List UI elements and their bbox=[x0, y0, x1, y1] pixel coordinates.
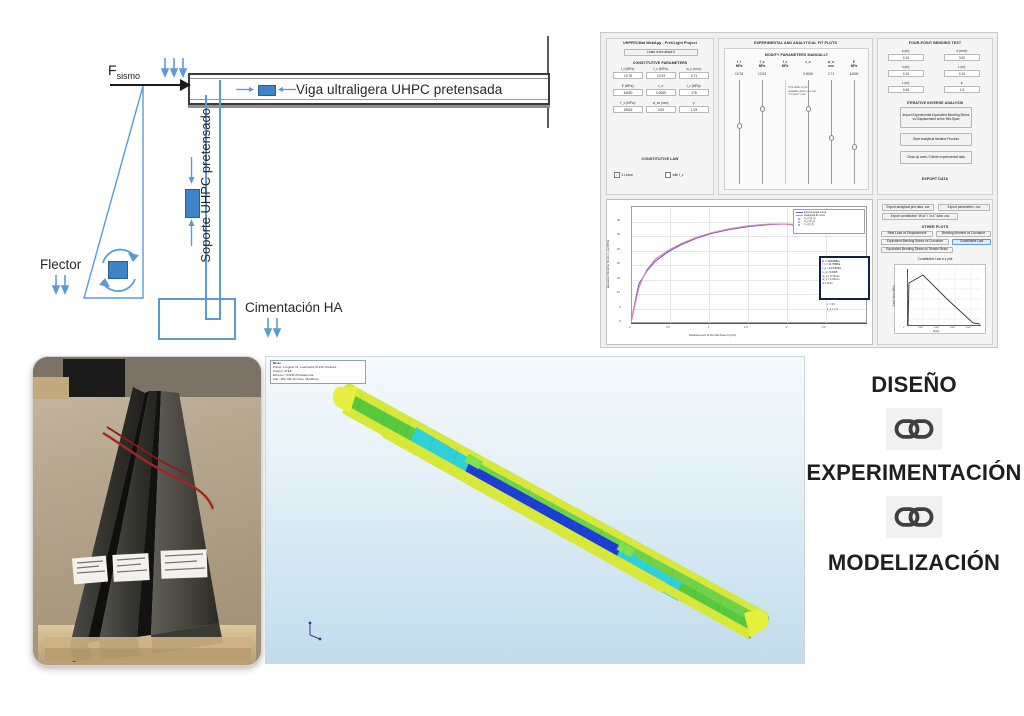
constitutive-law-title: CONSTITUTIVE LAW bbox=[607, 155, 713, 161]
slider-value-wu: 2.71 bbox=[821, 72, 841, 76]
flector-arrows-icon bbox=[50, 275, 74, 295]
beam-shadow bbox=[188, 105, 550, 108]
slider-knob-eu[interactable] bbox=[806, 106, 812, 112]
export-data-title: EXPORT DATA bbox=[878, 175, 992, 181]
constitutive-parameters-title: CONSTITUTIVE PARAMETERS bbox=[607, 59, 713, 65]
bending-label-l1: L (m): bbox=[944, 65, 980, 69]
slider-unit-fu: MPa bbox=[752, 64, 772, 68]
app-title: UHPFRCMat WebApp - PreULight Project bbox=[607, 39, 713, 45]
beam-arrow-right-icon bbox=[278, 85, 296, 94]
bending-label-l2: L (m): bbox=[888, 81, 924, 85]
field-value-fc[interactable]: 178 bbox=[679, 89, 709, 96]
bending-label-h: h (m): bbox=[888, 65, 924, 69]
chart-ytick: 20 bbox=[617, 262, 620, 265]
slider-value-e: 44000 bbox=[844, 72, 864, 76]
chart-xtick: 1 bbox=[708, 326, 709, 329]
slider-track-fc bbox=[785, 80, 786, 184]
mini-xtick: 4000 bbox=[934, 327, 939, 329]
bending-test-card: FOUR-POINT BENDING TEST b (m): 0.10 d (m… bbox=[877, 38, 993, 195]
chart-legend: Experimental curve Analytical fit curve … bbox=[793, 209, 865, 234]
chart-annotation-box: E = 44000MPa f_t = 10.78MPa f_u = 12.93M… bbox=[819, 256, 870, 300]
bending-value-h[interactable]: 0.10 bbox=[888, 70, 924, 77]
field-value-wcs[interactable]: 3.00 bbox=[646, 106, 676, 113]
seismic-force-symbol: F bbox=[108, 62, 117, 78]
bending-value-l2[interactable]: 0.45 bbox=[888, 86, 924, 93]
learn-more-button[interactable]: Learn more about it bbox=[624, 49, 698, 56]
chart-ytick: 0 bbox=[619, 320, 620, 323]
plots-title: EXPERIMENTAL AND ANALYTICAL FIT PLOTS bbox=[719, 39, 872, 45]
slider-value-fu: 12.93 bbox=[752, 72, 772, 76]
seismic-force-label: Fsismo bbox=[108, 62, 140, 81]
mini-xtick: 2000 bbox=[918, 327, 923, 329]
column-line-right bbox=[219, 80, 221, 320]
vertical-load-arrows-icon bbox=[160, 58, 194, 78]
uhpfrcmat-webapp-panel[interactable]: UHPFRCMat WebApp - PreULight Project Lea… bbox=[600, 32, 998, 348]
chart-extra-label: k_1 = 1.5 bbox=[827, 308, 838, 311]
beam-arrow-left-icon bbox=[236, 85, 254, 94]
legend-label: f_u (δ_f) bbox=[804, 223, 814, 226]
plot-constitutive-law-button[interactable]: Constitutive Law bbox=[952, 239, 991, 245]
column-arrow-up-icon bbox=[186, 219, 197, 247]
foundation-arrows-icon bbox=[262, 318, 286, 338]
field-label-fcp: f'_c (MPa): bbox=[613, 101, 643, 105]
field-label-gamma: γ: bbox=[679, 101, 709, 105]
slider-knob-e[interactable] bbox=[852, 144, 858, 150]
start-iterative-button[interactable]: Start Analytical Iterative Process bbox=[900, 133, 972, 146]
constitutive-law-mini-chart: 0 2000 4000 6000 8000 Strain Tensile Str… bbox=[894, 264, 986, 334]
chart-xtick: 0 bbox=[629, 326, 630, 329]
field-label-wcs: w_cs (mm): bbox=[646, 101, 676, 105]
mini-chart-curve bbox=[907, 269, 981, 325]
chart-xtick: 2.5 bbox=[822, 326, 826, 329]
other-plots-title: OTHER PLOTS bbox=[878, 223, 992, 229]
field-value-eu[interactable]: 0.0065 bbox=[646, 89, 676, 96]
label-experimentacion: EXPERIMENTACIÓN bbox=[806, 460, 1022, 486]
bending-value-k[interactable]: 1.5 bbox=[944, 86, 980, 93]
chart-ytick: 10 bbox=[617, 291, 620, 294]
beam-inner-line-top bbox=[190, 78, 548, 79]
modify-parameters-card: EXPERIMENTAL AND ANALYTICAL FIT PLOTS MO… bbox=[718, 38, 873, 195]
field-label-fc: f_c (MPa): bbox=[679, 84, 709, 88]
field-value-fcp[interactable]: 19502 bbox=[613, 106, 643, 113]
label-modelizacion: MODELIZACIÓN bbox=[806, 550, 1022, 576]
plot-real-load-button[interactable]: Real Load vs Displacement bbox=[881, 231, 933, 237]
process-labels-column: DISEÑO EXPERIMENTACIÓN MODELIZACIÓN bbox=[806, 372, 1022, 642]
fea-simulation-panel: Mises Primer: Longitud V1, Load factor M… bbox=[265, 356, 805, 664]
sliders-subcard: MODIFY PARAMETERS MANUALLY f_t MPa 10.78… bbox=[724, 48, 869, 190]
slider-track-fu[interactable] bbox=[762, 80, 763, 184]
field-label-wu: w_u (mm): bbox=[679, 67, 709, 71]
slider-disabled-note: This slider is not available when you us… bbox=[788, 86, 818, 97]
fit-plot-chart: 0 5 10 15 20 25 30 35 0 0.5 1 1.5 2 2.5 … bbox=[606, 199, 873, 345]
chart-xlabel: Displacement at the Mid-Span δ (mm) bbox=[689, 333, 736, 337]
slider-unit-wu: mm bbox=[821, 64, 841, 68]
field-value-gamma[interactable]: 1.29 bbox=[679, 106, 709, 113]
chart-extra-label: γ = 4/3 bbox=[827, 303, 835, 306]
export-parameters-button[interactable]: Export parameters .csv bbox=[938, 204, 990, 211]
chain-link-icon-2 bbox=[886, 496, 942, 538]
inverse-analysis-title: ITERATIVE INVERSE ANALYSIS bbox=[878, 99, 992, 105]
legend-swatch-wc bbox=[798, 221, 800, 223]
chain-link-icon bbox=[893, 502, 935, 532]
field-value-ft[interactable]: 10.78 bbox=[613, 72, 643, 79]
bending-moment-label: Flector bbox=[40, 257, 81, 272]
checkbox-with-fc[interactable]: with f_c bbox=[665, 172, 683, 178]
constitutive-parameters-card: UHPFRCMat WebApp - PreULight Project Lea… bbox=[606, 38, 714, 195]
legend-swatch-wu bbox=[798, 218, 800, 220]
export-other-plots-card: Export analytical plot data .csv Export … bbox=[877, 199, 993, 345]
structural-schematic-diagram: Viga ultraligera UHPC pretensada Fsismo … bbox=[0, 0, 590, 350]
slider-knob-ft[interactable] bbox=[737, 123, 743, 129]
chart-xtick: 1.5 bbox=[744, 326, 748, 329]
mini-xlabel: Strain bbox=[933, 330, 939, 333]
legend-swatch-experimental bbox=[796, 212, 803, 213]
uhpc-beams-photo bbox=[32, 356, 262, 666]
chart-x-axis bbox=[631, 323, 867, 324]
chart-xtick: 2 bbox=[786, 326, 787, 329]
field-label-ft: f_t (MPa): bbox=[613, 67, 643, 71]
chart-ytick: 35 bbox=[617, 219, 620, 222]
field-value-e[interactable]: 44000 bbox=[613, 89, 643, 96]
bending-value-l1[interactable]: 0.10 bbox=[944, 70, 980, 77]
checkbox-3-linear-label: 3 Linear bbox=[622, 173, 634, 177]
bending-value-d[interactable]: 3.00 bbox=[944, 54, 980, 61]
moment-rotation-arrows-icon bbox=[95, 245, 143, 295]
export-plot-data-button[interactable]: Export analytical plot data .csv bbox=[882, 204, 934, 211]
slider-unit-fc: MPa bbox=[775, 64, 795, 68]
beam-inner-line-bottom bbox=[190, 99, 548, 100]
mini-xtick: 6000 bbox=[950, 327, 955, 329]
legend-swatch-fu bbox=[798, 224, 800, 226]
bending-label-k: k: bbox=[944, 81, 980, 85]
mini-xtick: 0 bbox=[903, 327, 904, 329]
slider-value-ft: 10.78 bbox=[729, 72, 749, 76]
label-diseno: DISEÑO bbox=[806, 372, 1022, 398]
slider-knob-fu[interactable] bbox=[760, 106, 766, 112]
beam-section-swatch bbox=[258, 85, 276, 96]
plot-bending-moment-button[interactable]: Bending Moment vs Curvature bbox=[936, 231, 991, 237]
fea-axis-triad-icon bbox=[304, 619, 326, 641]
mini-chart-title: Constitutive Law σ-ε plot bbox=[878, 257, 992, 261]
chart-ytick: 30 bbox=[617, 233, 620, 236]
chart-ytick: 15 bbox=[617, 277, 620, 280]
foundation-label: Cimentación HA bbox=[245, 300, 343, 315]
slider-track-wu[interactable] bbox=[831, 80, 832, 184]
slider-unit-ft: MPa bbox=[729, 64, 749, 68]
import-experimental-button[interactable]: Import Experimental Equivalent Bending S… bbox=[900, 107, 972, 128]
field-value-fu[interactable]: 12.93 bbox=[646, 72, 676, 79]
mini-xtick: 8000 bbox=[966, 327, 971, 329]
beam-label: Viga ultraligera UHPC pretensada bbox=[296, 82, 502, 97]
export-constitutive-button[interactable]: Export constitutive "W-w" / "σ-ε" data .… bbox=[882, 213, 958, 220]
chart-xtick: 0.5 bbox=[666, 326, 670, 329]
bending-value-b[interactable]: 0.10 bbox=[888, 54, 924, 61]
slider-symbol-eu: ε_u bbox=[798, 60, 818, 64]
seismic-force-subscript: sismo bbox=[117, 71, 141, 81]
plot-eq-stress-curvature-button[interactable]: Equivalent Bending Stress vs Curvature bbox=[881, 239, 949, 245]
field-value-wu[interactable]: 2.71 bbox=[679, 72, 709, 79]
mini-x-axis bbox=[907, 325, 981, 326]
column-label: Soporte UHPC pretensado bbox=[198, 108, 213, 263]
slider-value-eu: 0.0065 bbox=[798, 72, 818, 76]
checkbox-3-linear-box[interactable]: ✓ bbox=[614, 172, 620, 178]
slider-track-ft[interactable] bbox=[739, 80, 740, 184]
checkbox-3-linear[interactable]: ✓ 3 Linear bbox=[614, 172, 633, 178]
chart-ylabel: Equivalent Bending Stress σ_eq (MPa) bbox=[606, 240, 610, 288]
chart-ytick: 5 bbox=[619, 306, 620, 309]
chain-link-icon bbox=[893, 414, 935, 444]
fea-deformed-beam bbox=[266, 357, 805, 664]
annotation-row: d = 3mm bbox=[823, 282, 867, 286]
field-label-eu: ε_u: bbox=[646, 84, 676, 88]
chain-link-icon-1 bbox=[886, 408, 942, 450]
photo-beams bbox=[33, 357, 261, 665]
slider-knob-wu[interactable] bbox=[829, 135, 835, 141]
checkbox-with-fc-box[interactable] bbox=[665, 172, 671, 178]
plot-eq-stress-strain-button[interactable]: Equivalent Bending Stress vs Tensile Str… bbox=[881, 247, 953, 253]
checkbox-with-fc-label: with f_c bbox=[673, 173, 684, 177]
bending-test-title: FOUR-POINT BENDING TEST bbox=[878, 39, 992, 45]
column-arrow-down-icon bbox=[186, 157, 197, 185]
legend-swatch-analytical bbox=[796, 215, 803, 216]
field-label-e: E (MPa): bbox=[613, 84, 643, 88]
field-label-fu: f_u (MPa): bbox=[646, 67, 676, 71]
slider-unit-e: MPa bbox=[844, 64, 864, 68]
modify-parameters-title: MODIFY PARAMETERS MANUALLY bbox=[725, 51, 868, 57]
mini-ylabel: Tensile Stress (MPa) bbox=[894, 285, 896, 306]
clear-axes-button[interactable]: Clear up axes / Delete experimental data bbox=[900, 151, 972, 164]
chart-ytick: 25 bbox=[617, 248, 620, 251]
bending-label-b: b (m): bbox=[888, 49, 924, 53]
slider-track-e[interactable] bbox=[854, 80, 855, 184]
slider-track-eu[interactable] bbox=[808, 80, 809, 184]
foundation-block bbox=[158, 298, 236, 340]
legend-item: f_u (δ_f) bbox=[796, 223, 863, 226]
bending-label-d: d (mm): bbox=[944, 49, 980, 53]
